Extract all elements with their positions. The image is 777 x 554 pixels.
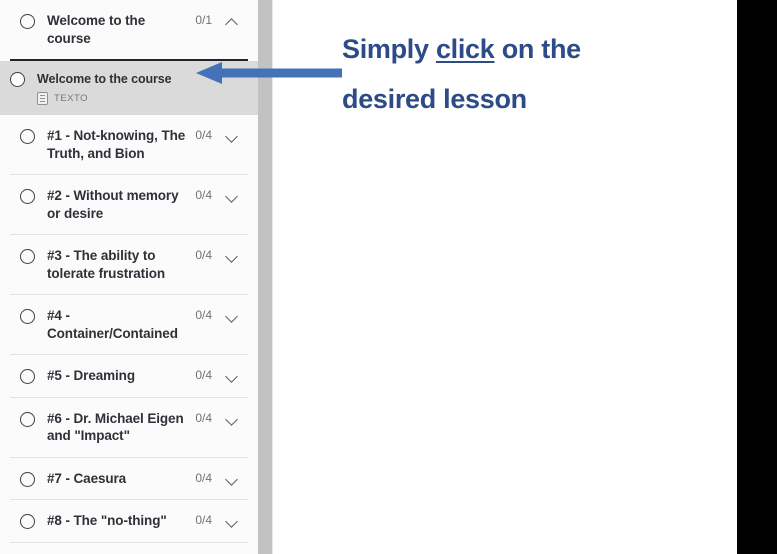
section-header-7[interactable]: #6 - Dr. Michael Eigen and "Impact"0/4 xyxy=(10,398,248,458)
chevron-down-icon[interactable] xyxy=(226,130,238,142)
curriculum-section: #1 - Not-knowing, The Truth, and Bion0/4 xyxy=(0,115,258,175)
section-header-1[interactable]: Welcome to the course0/1 xyxy=(10,0,248,61)
section-header-9[interactable]: #8 - The "no-thing"0/4 xyxy=(10,500,248,543)
lesson-title: Welcome to the course xyxy=(37,71,250,87)
annotation-callout: Simply click on the desired lesson xyxy=(342,24,712,124)
chevron-down-icon[interactable] xyxy=(226,310,238,322)
annotation-text-emphasis: click xyxy=(436,34,495,64)
curriculum-section: Course Summary0/3 xyxy=(0,543,258,554)
section-title: #3 - The ability to tolerate frustration xyxy=(47,247,195,282)
lesson-type-label: TEXTO xyxy=(54,93,88,104)
section-progress-circle-icon xyxy=(20,412,35,427)
section-title: #1 - Not-knowing, The Truth, and Bion xyxy=(47,127,195,162)
chevron-down-icon[interactable] xyxy=(226,370,238,382)
section-progress-count: 0/4 xyxy=(195,247,212,265)
section-progress-count: 0/1 xyxy=(195,12,212,30)
chevron-down-icon[interactable] xyxy=(226,190,238,202)
curriculum-scrollbar-track[interactable] xyxy=(258,0,272,554)
section-progress-circle-icon xyxy=(20,249,35,264)
section-title: #6 - Dr. Michael Eigen and "Impact" xyxy=(47,410,195,445)
content-pane-divider xyxy=(272,0,280,554)
curriculum-section: #5 - Dreaming0/4 xyxy=(0,355,258,398)
section-progress-circle-icon xyxy=(20,189,35,204)
section-progress-circle-icon xyxy=(20,309,35,324)
section-title: #4 - Container/Contained xyxy=(47,307,195,342)
chevron-down-icon[interactable] xyxy=(226,250,238,262)
section-progress-count: 0/4 xyxy=(195,367,212,385)
curriculum-section: #3 - The ability to tolerate frustration… xyxy=(0,235,258,295)
section-progress-circle-icon xyxy=(20,14,35,29)
section-progress-count: 0/4 xyxy=(195,307,212,325)
section-title: #8 - The "no-thing" xyxy=(47,512,195,530)
section-progress-count: 0/4 xyxy=(195,512,212,530)
document-icon xyxy=(37,92,48,105)
annotation-text-after: on the xyxy=(495,34,581,64)
screenshot-root: Welcome to the course0/1Welcome to the c… xyxy=(0,0,777,554)
section-title: #7 - Caesura xyxy=(47,470,195,488)
lesson-row[interactable]: Welcome to the courseTEXTO xyxy=(0,61,258,115)
section-progress-count: 0/4 xyxy=(195,410,212,428)
curriculum-section: Welcome to the course0/1Welcome to the c… xyxy=(0,0,258,115)
annotation-line-2: desired lesson xyxy=(342,74,712,124)
chevron-up-icon[interactable] xyxy=(226,15,238,27)
lesson-body: Welcome to the courseTEXTO xyxy=(37,71,258,105)
section-progress-circle-icon xyxy=(20,472,35,487)
section-header-3[interactable]: #2 - Without memory or desire0/4 xyxy=(10,175,248,235)
curriculum-section: #8 - The "no-thing"0/4 xyxy=(0,500,258,543)
section-progress-count: 0/4 xyxy=(195,187,212,205)
section-list: Welcome to the course0/1Welcome to the c… xyxy=(0,0,258,554)
chevron-down-icon[interactable] xyxy=(226,473,238,485)
annotation-line-1: Simply click on the xyxy=(342,24,712,74)
curriculum-section: #2 - Without memory or desire0/4 xyxy=(0,175,258,235)
right-gutter xyxy=(737,0,777,554)
section-title: Welcome to the course xyxy=(47,12,195,47)
section-title: #2 - Without memory or desire xyxy=(47,187,195,222)
section-header-5[interactable]: #4 - Container/Contained0/4 xyxy=(10,295,248,355)
section-header-2[interactable]: #1 - Not-knowing, The Truth, and Bion0/4 xyxy=(10,115,248,175)
section-header-4[interactable]: #3 - The ability to tolerate frustration… xyxy=(10,235,248,295)
lesson-meta: TEXTO xyxy=(37,92,250,105)
curriculum-scrollbar-thumb[interactable] xyxy=(258,0,272,554)
section-progress-circle-icon xyxy=(20,514,35,529)
section-title: #5 - Dreaming xyxy=(47,367,195,385)
curriculum-section: #6 - Dr. Michael Eigen and "Impact"0/4 xyxy=(0,398,258,458)
section-header-10[interactable]: Course Summary0/3 xyxy=(10,543,248,554)
section-header-8[interactable]: #7 - Caesura0/4 xyxy=(10,458,248,501)
section-progress-circle-icon xyxy=(20,129,35,144)
course-curriculum-panel[interactable]: Welcome to the course0/1Welcome to the c… xyxy=(0,0,258,554)
curriculum-section: #7 - Caesura0/4 xyxy=(0,458,258,501)
section-progress-count: 0/4 xyxy=(195,127,212,145)
annotation-text-before: Simply xyxy=(342,34,436,64)
lesson-progress-circle-icon xyxy=(10,72,25,87)
chevron-down-icon[interactable] xyxy=(226,413,238,425)
chevron-down-icon[interactable] xyxy=(226,515,238,527)
section-progress-count: 0/4 xyxy=(195,470,212,488)
section-progress-circle-icon xyxy=(20,369,35,384)
curriculum-section: #4 - Container/Contained0/4 xyxy=(0,295,258,355)
section-header-6[interactable]: #5 - Dreaming0/4 xyxy=(10,355,248,398)
